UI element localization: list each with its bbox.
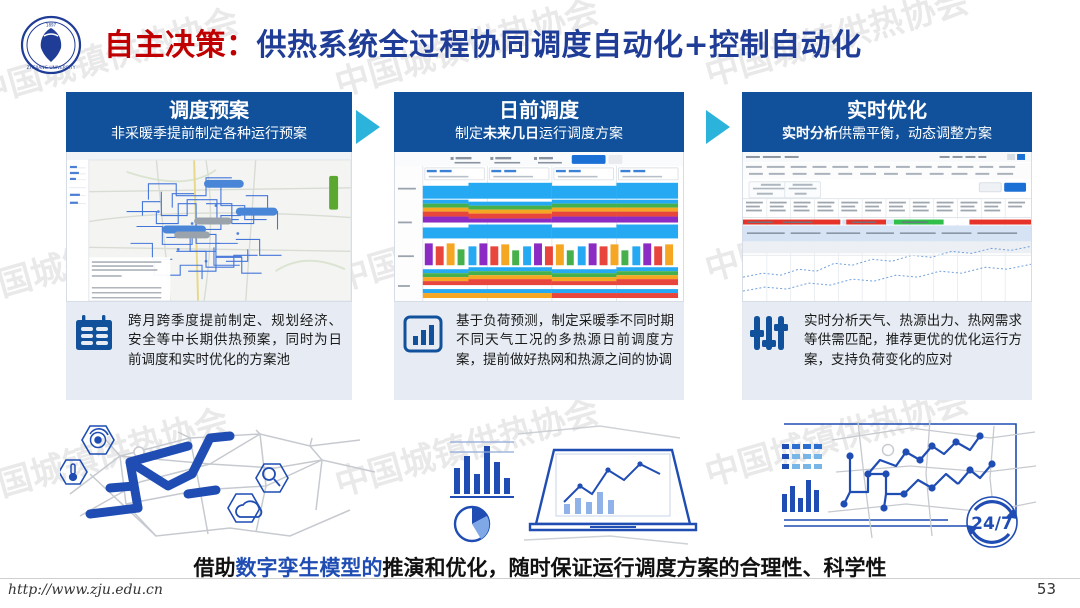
panel-scheduling-plan[interactable]: 调度预案 非采暖季提前制定各种运行预案 bbox=[66, 92, 352, 400]
page-title-blue: 供热系统全过程协同调度自动化+控制自动化 bbox=[257, 28, 862, 63]
illustration-network-map-hex-icons bbox=[60, 416, 390, 548]
panel-body: 基于负荷预测，制定采暖季不同时期不同天气工况的多热源日前调度方案，提前做好热网和… bbox=[394, 302, 684, 400]
panel-subheading: 非采暖季提前制定各种运行预案 bbox=[72, 125, 346, 144]
arrow-dayahead-to-realtime bbox=[706, 110, 730, 144]
24-7-badge: 24/7 bbox=[967, 497, 1017, 547]
panel-day-ahead-scheduling[interactable]: 日前调度 制定未来几日运行调度方案 bbox=[394, 92, 684, 400]
page-title: 自主决策：供热系统全过程协同调度自动化+控制自动化 bbox=[104, 20, 862, 64]
panel-heading: 日前调度 bbox=[400, 98, 678, 123]
panel-header: 日前调度 制定未来几日运行调度方案 bbox=[394, 92, 684, 152]
panel-body-text: 实时分析天气、热源出力、热网需求等供需匹配，推荐更优的优化运行方案，支持负荷变化… bbox=[804, 312, 1022, 371]
panel-header: 实时优化 实时分析供需平衡，动态调整方案 bbox=[742, 92, 1032, 152]
banner-highlight: 数字孪生模型的 bbox=[236, 556, 383, 580]
screenshot-multicolor-schedule-gantt[interactable] bbox=[394, 152, 684, 302]
panel-subheading: 制定未来几日运行调度方案 bbox=[400, 125, 678, 144]
page-number: 53 bbox=[1037, 580, 1056, 598]
arrow-plan-to-dayahead bbox=[356, 110, 380, 144]
screenshot-gis-heat-network-map[interactable] bbox=[66, 152, 352, 302]
svg-text:ZHEJIANG UNIVERSITY: ZHEJIANG UNIVERSITY bbox=[27, 65, 76, 71]
panel-heading: 实时优化 bbox=[748, 98, 1026, 123]
panel-body: 跨月跨季度提前制定、规划经济、安全等中长期供热预案，同时为日前调度和实时优化的方… bbox=[66, 302, 352, 400]
zhejiang-university-logo: ZHEJIANG UNIVERSITY 1897 bbox=[20, 14, 82, 76]
svg-text:1897: 1897 bbox=[46, 23, 57, 28]
calendar-icon bbox=[74, 312, 120, 360]
banner-pre: 借助 bbox=[194, 556, 236, 580]
sub-post: 非采暖季提前制定各种运行预案 bbox=[111, 126, 307, 142]
slide-root: 中国城镇供热协会 中国城镇供热协会 中国城镇供热协会 中国城镇供热协会 中国城镇… bbox=[0, 0, 1080, 608]
footer-url[interactable]: http://www.zju.edu.cn bbox=[8, 582, 163, 598]
banner-post: 推演和优化，随时保证运行调度方案的合理性、科学性 bbox=[383, 556, 887, 580]
illustration-laptop-analytics bbox=[420, 416, 720, 548]
sub-post: 运行调度方案 bbox=[539, 126, 623, 142]
page-title-red: 自主决策： bbox=[104, 28, 257, 63]
sub-post: 供需平衡，动态调整方案 bbox=[838, 126, 992, 142]
bottom-banner: 借助数字孪生模型的推演和优化，随时保证运行调度方案的合理性、科学性 bbox=[0, 552, 1080, 582]
badge-label: 24/7 bbox=[971, 514, 1013, 534]
panel-subheading: 实时分析供需平衡，动态调整方案 bbox=[748, 125, 1026, 144]
panel-body: 实时分析天气、热源出力、热网需求等供需匹配，推荐更优的优化运行方案，支持负荷变化… bbox=[742, 302, 1032, 400]
panel-body-text: 基于负荷预测，制定采暖季不同时期不同天气工况的多热源日前调度方案，提前做好热网和… bbox=[456, 312, 674, 371]
sub-bold: 未来几日 bbox=[483, 126, 539, 142]
sub-pre: 制定 bbox=[455, 126, 483, 142]
panel-heading: 调度预案 bbox=[72, 98, 346, 123]
screenshot-realtime-data-table-chart[interactable] bbox=[742, 152, 1032, 302]
sliders-icon bbox=[750, 312, 796, 360]
illustration-digital-twin-network: 24/7 bbox=[780, 416, 1042, 548]
panel-body-text: 跨月跨季度提前制定、规划经济、安全等中长期供热预案，同时为日前调度和实时优化的方… bbox=[128, 312, 342, 371]
panel-realtime-optimization[interactable]: 实时优化 实时分析供需平衡，动态调整方案 bbox=[742, 92, 1032, 400]
panel-header: 调度预案 非采暖季提前制定各种运行预案 bbox=[66, 92, 352, 152]
sub-bold: 实时分析 bbox=[782, 126, 838, 142]
bar-chart-icon bbox=[402, 312, 448, 360]
